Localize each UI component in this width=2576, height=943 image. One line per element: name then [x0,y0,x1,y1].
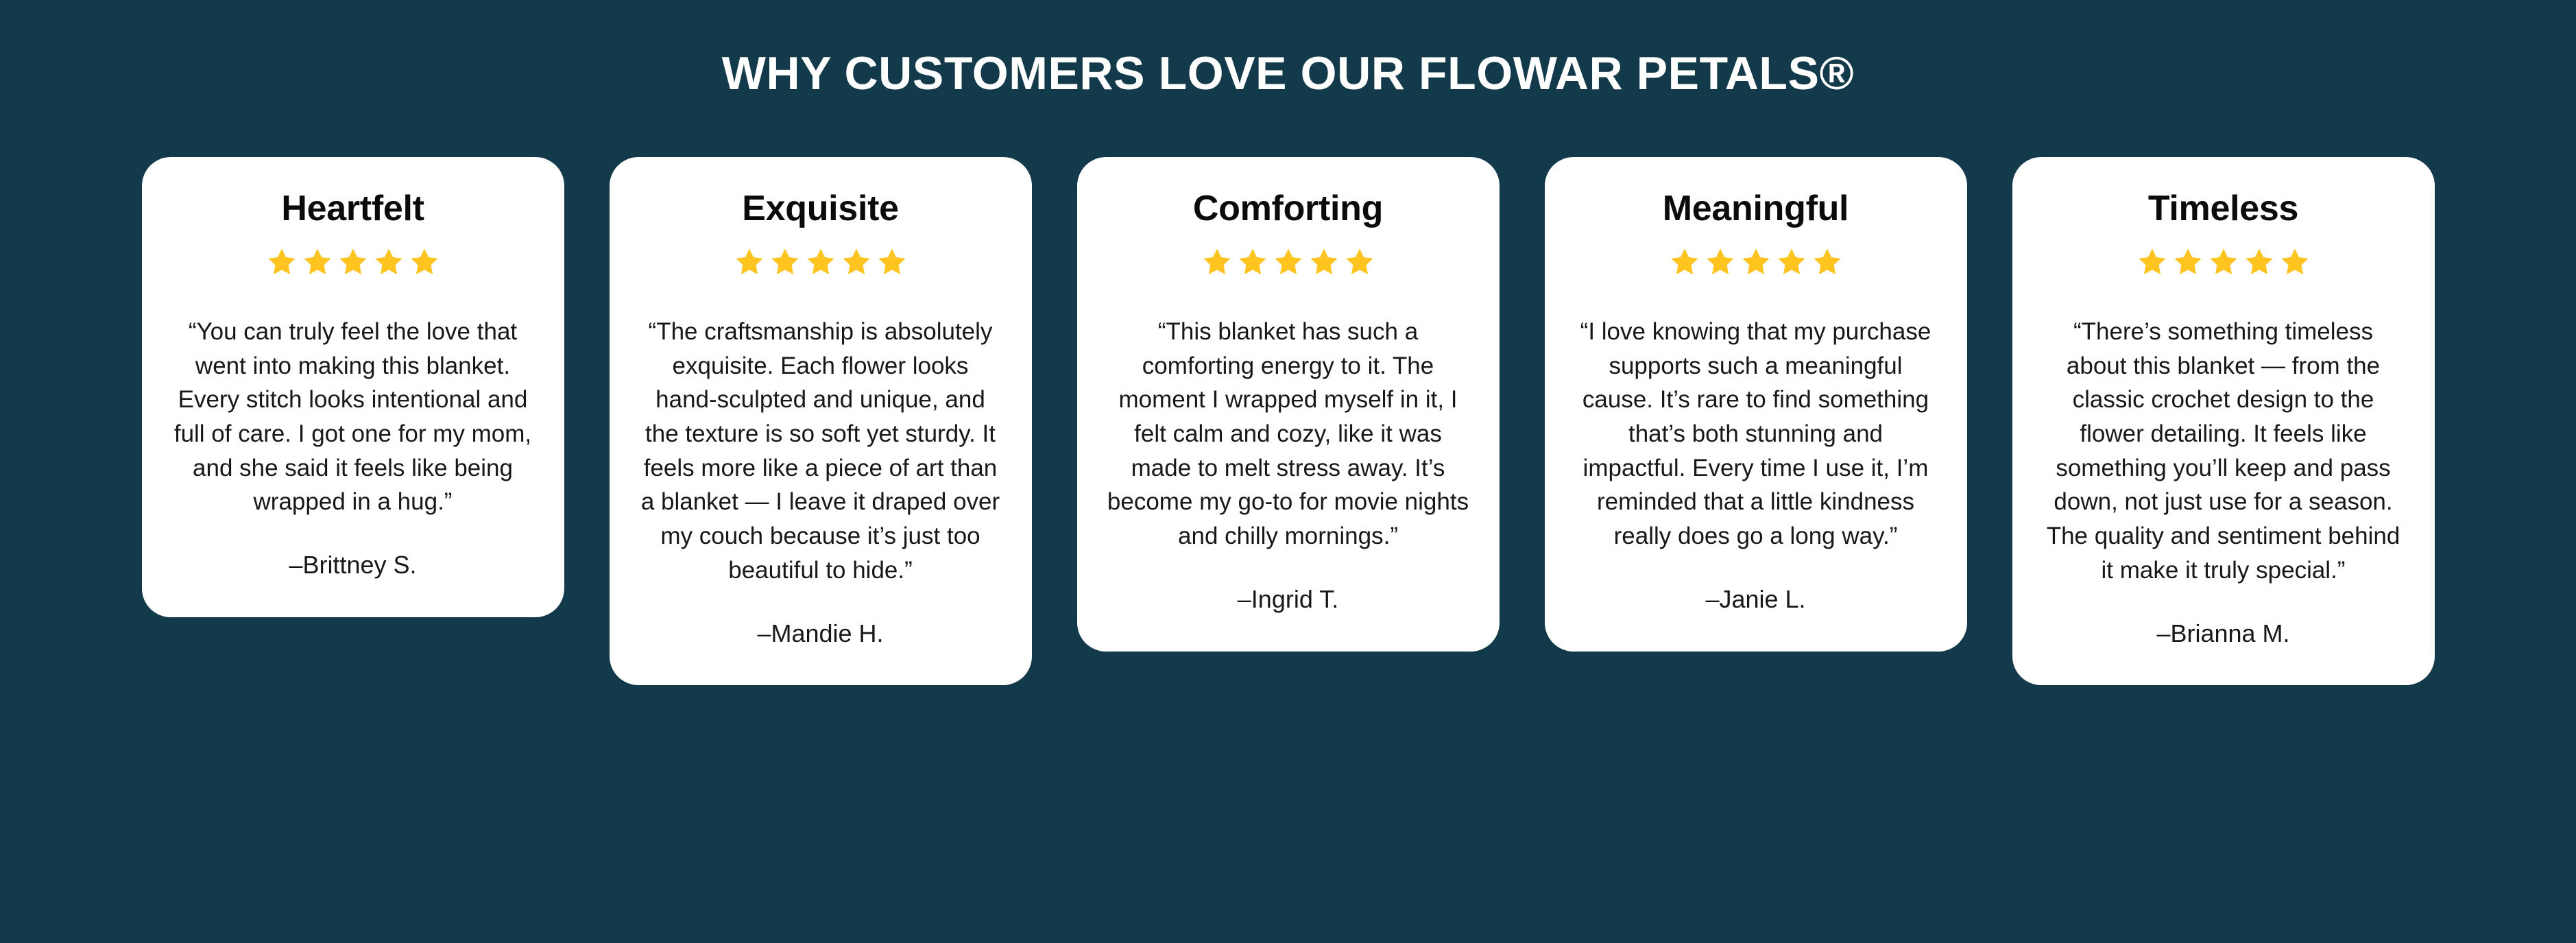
testimonial-card-list: Heartfelt“You can truly feel the love th… [142,157,2435,686]
page-title: WHY CUSTOMERS LOVE OUR FLOWAR PETALS® [722,48,1854,99]
testimonial-quote: “The craftsmanship is absolutely exquisi… [640,315,1002,588]
star-icon [2279,246,2311,278]
testimonial-quote: “There’s something timeless about this b… [2043,315,2405,588]
star-icon [1740,246,1772,278]
star-icon [337,246,369,278]
star-icon [1237,246,1268,278]
star-rating [2136,246,2311,278]
star-icon [734,246,765,278]
testimonial-card: Exquisite“The craftsmanship is absolutel… [610,157,1032,686]
testimonial-card: Timeless“There’s something timeless abou… [2012,157,2435,686]
testimonial-attribution: –Brittney S. [289,549,416,582]
testimonial-attribution: –Janie L. [1705,584,1805,616]
star-icon [1669,246,1700,278]
star-icon [2136,246,2168,278]
star-rating [1201,246,1375,278]
testimonial-quote: “I love knowing that my purchase support… [1575,315,1937,553]
testimonial-title: Meaningful [1663,189,1849,228]
star-icon [373,246,405,278]
testimonial-title: Heartfelt [281,189,424,228]
testimonial-title: Exquisite [742,189,898,228]
testimonial-card: Heartfelt“You can truly feel the love th… [142,157,564,617]
star-icon [1344,246,1375,278]
star-icon [1811,246,1843,278]
testimonial-quote: “You can truly feel the love that went i… [172,315,534,519]
star-icon [302,246,333,278]
star-icon [769,246,801,278]
star-icon [1705,246,1736,278]
testimonial-title: Comforting [1193,189,1383,228]
star-icon [409,246,440,278]
star-rating [734,246,908,278]
star-icon [2208,246,2239,278]
testimonial-card: Meaningful“I love knowing that my purcha… [1545,157,1967,652]
star-icon [805,246,836,278]
testimonials-section: WHY CUSTOMERS LOVE OUR FLOWAR PETALS® He… [0,0,2576,943]
star-icon [1308,246,1340,278]
testimonial-quote: “This blanket has such a comforting ener… [1107,315,1469,553]
testimonial-title: Timeless [2148,189,2298,228]
testimonial-attribution: –Mandie H. [757,618,883,650]
star-icon [2172,246,2204,278]
testimonial-attribution: –Ingrid T. [1238,584,1338,616]
testimonial-card: Comforting“This blanket has such a comfo… [1077,157,1500,652]
star-rating [1669,246,1843,278]
star-icon [266,246,298,278]
star-icon [1273,246,1304,278]
star-icon [2243,246,2275,278]
star-rating [266,246,440,278]
testimonial-attribution: –Brianna M. [2156,618,2289,650]
star-icon [1201,246,1233,278]
star-icon [841,246,872,278]
star-icon [876,246,908,278]
star-icon [1776,246,1807,278]
